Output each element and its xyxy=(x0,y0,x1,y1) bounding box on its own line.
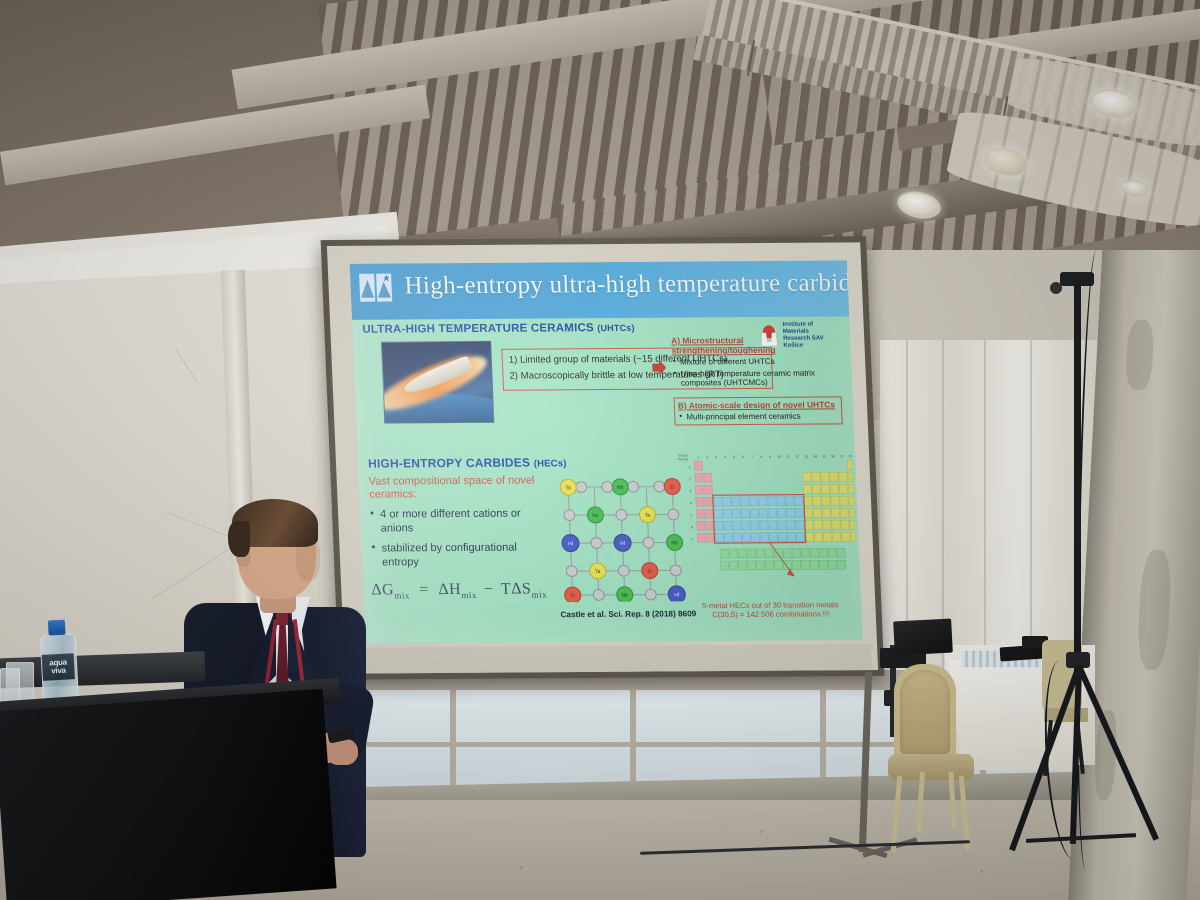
section-heading-hec: HIGH-ENTROPY CARBIDES (HECs) xyxy=(368,455,567,470)
svg-text:5: 5 xyxy=(690,513,692,517)
svg-text:11: 11 xyxy=(786,455,790,459)
svg-text:Nb: Nb xyxy=(617,485,624,491)
svg-text:3: 3 xyxy=(715,455,717,459)
panel-b-title: B) Atomic-scale design of novel UHTCs xyxy=(678,399,839,410)
svg-text:2: 2 xyxy=(689,477,691,481)
svg-text:9: 9 xyxy=(769,455,771,459)
bottle-brand-line-2: viva xyxy=(51,667,66,676)
svg-text:14: 14 xyxy=(813,455,817,459)
svg-text:Nb: Nb xyxy=(671,540,678,546)
tripod-pan-knob xyxy=(1050,282,1062,294)
svg-text:4: 4 xyxy=(690,501,692,505)
periodic-table-figure: GroupPeriod 123 4567 1234 5678 9101112 1… xyxy=(676,448,858,599)
svg-text:17: 17 xyxy=(840,454,844,458)
svg-text:1: 1 xyxy=(697,455,699,459)
svg-text:3: 3 xyxy=(689,489,691,493)
screen-blank-area xyxy=(350,644,874,674)
svg-text:7: 7 xyxy=(751,455,753,459)
lectern xyxy=(0,689,337,900)
svg-text:16: 16 xyxy=(831,454,835,458)
svg-text:Hf: Hf xyxy=(568,541,574,547)
svg-text:1: 1 xyxy=(688,465,690,469)
chair-leg xyxy=(891,776,903,852)
mountain-peaks-logo-icon xyxy=(358,272,395,306)
svg-text:12: 12 xyxy=(795,455,799,459)
conference-presentation-photo: High-entropy ultra-high temperature carb… xyxy=(0,0,1200,900)
hec-heading-abbrev: (HECs) xyxy=(534,458,567,469)
screen-surface: High-entropy ultra-high temperature carb… xyxy=(327,242,878,673)
svg-text:Ta: Ta xyxy=(645,513,651,519)
presentation-slide: High-entropy ultra-high temperature carb… xyxy=(350,260,863,643)
chair-back-cushion xyxy=(900,670,950,754)
panel-b: B) Atomic-scale design of novel UHTCs Mu… xyxy=(674,396,843,425)
slide-title: High-entropy ultra-high temperature carb… xyxy=(404,269,840,300)
svg-text:8: 8 xyxy=(760,455,762,459)
hec-heading-text: HIGH-ENTROPY CARBIDES xyxy=(368,456,531,471)
svg-text:Nb: Nb xyxy=(621,593,628,599)
svg-text:13: 13 xyxy=(804,455,808,459)
panel-a-title: A) Microstructural strengthening/toughen… xyxy=(671,334,844,355)
tripod-center-column xyxy=(1074,280,1081,680)
chair-leg xyxy=(959,776,970,850)
svg-text:Ta: Ta xyxy=(565,485,571,491)
bottle-cap xyxy=(48,620,66,636)
svg-text:Hf: Hf xyxy=(674,592,680,598)
lattice-citation: Castle et al. Sci. Rep. 8 (2018) 8609 xyxy=(560,609,696,619)
section-heading-uhtc: ULTRA-HIGH TEMPERATURE CERAMICS (UHTCs) xyxy=(362,322,635,336)
rocksalt-crystal-lattice-icon: Ta Nb Zr Nb Ta Hf Hf Nb Ta Zr Zr Nb Hf xyxy=(555,473,690,602)
banquet-chair xyxy=(888,664,978,854)
slide-title-bar: High-entropy ultra-high temperature carb… xyxy=(350,260,850,319)
uhtc-heading-text: ULTRA-HIGH TEMPERATURE CERAMICS xyxy=(362,322,594,336)
svg-text:7: 7 xyxy=(691,537,693,541)
svg-text:Nb: Nb xyxy=(592,513,599,519)
svg-text:6: 6 xyxy=(742,455,744,459)
panel-b-bullet-1: Multi-principal element ceramics xyxy=(686,411,838,422)
panel-a: A) Microstructural strengthening/toughen… xyxy=(671,334,845,388)
svg-text:Zr: Zr xyxy=(670,484,675,490)
svg-text:10: 10 xyxy=(777,455,781,459)
periodic-table-caption: 5-metal HECs out of 30 transition metals… xyxy=(682,600,859,620)
svg-text:Period: Period xyxy=(678,457,688,461)
chair-leg xyxy=(916,772,925,832)
svg-text:Zr: Zr xyxy=(570,593,575,599)
svg-text:Ta: Ta xyxy=(595,569,601,575)
svg-text:Hf: Hf xyxy=(620,541,626,547)
uhtc-heading-abbrev: (UHTCs) xyxy=(597,323,635,333)
svg-text:18: 18 xyxy=(848,454,852,458)
svg-text:5: 5 xyxy=(733,455,735,459)
pt-caption-line-2: C(30,5) = 142 506 combinations !!! xyxy=(682,610,858,621)
red-right-arrow-icon xyxy=(652,360,667,376)
panel-a-bullet-1: Mixture of different UHTCs xyxy=(680,356,844,367)
panel-a-bullet-2: Ultra-high temperature ceramic matrix co… xyxy=(680,368,845,388)
space-shuttle-reentry-image xyxy=(381,341,494,424)
hair-side xyxy=(228,521,250,557)
chair-leg xyxy=(948,772,956,830)
svg-text:2: 2 xyxy=(706,455,708,459)
svg-text:15: 15 xyxy=(822,454,826,458)
svg-text:4: 4 xyxy=(724,455,726,459)
svg-text:6: 6 xyxy=(691,525,693,529)
laptop xyxy=(893,619,953,656)
svg-text:Zr: Zr xyxy=(647,569,652,575)
bottle-label: aqua viva xyxy=(42,653,75,681)
